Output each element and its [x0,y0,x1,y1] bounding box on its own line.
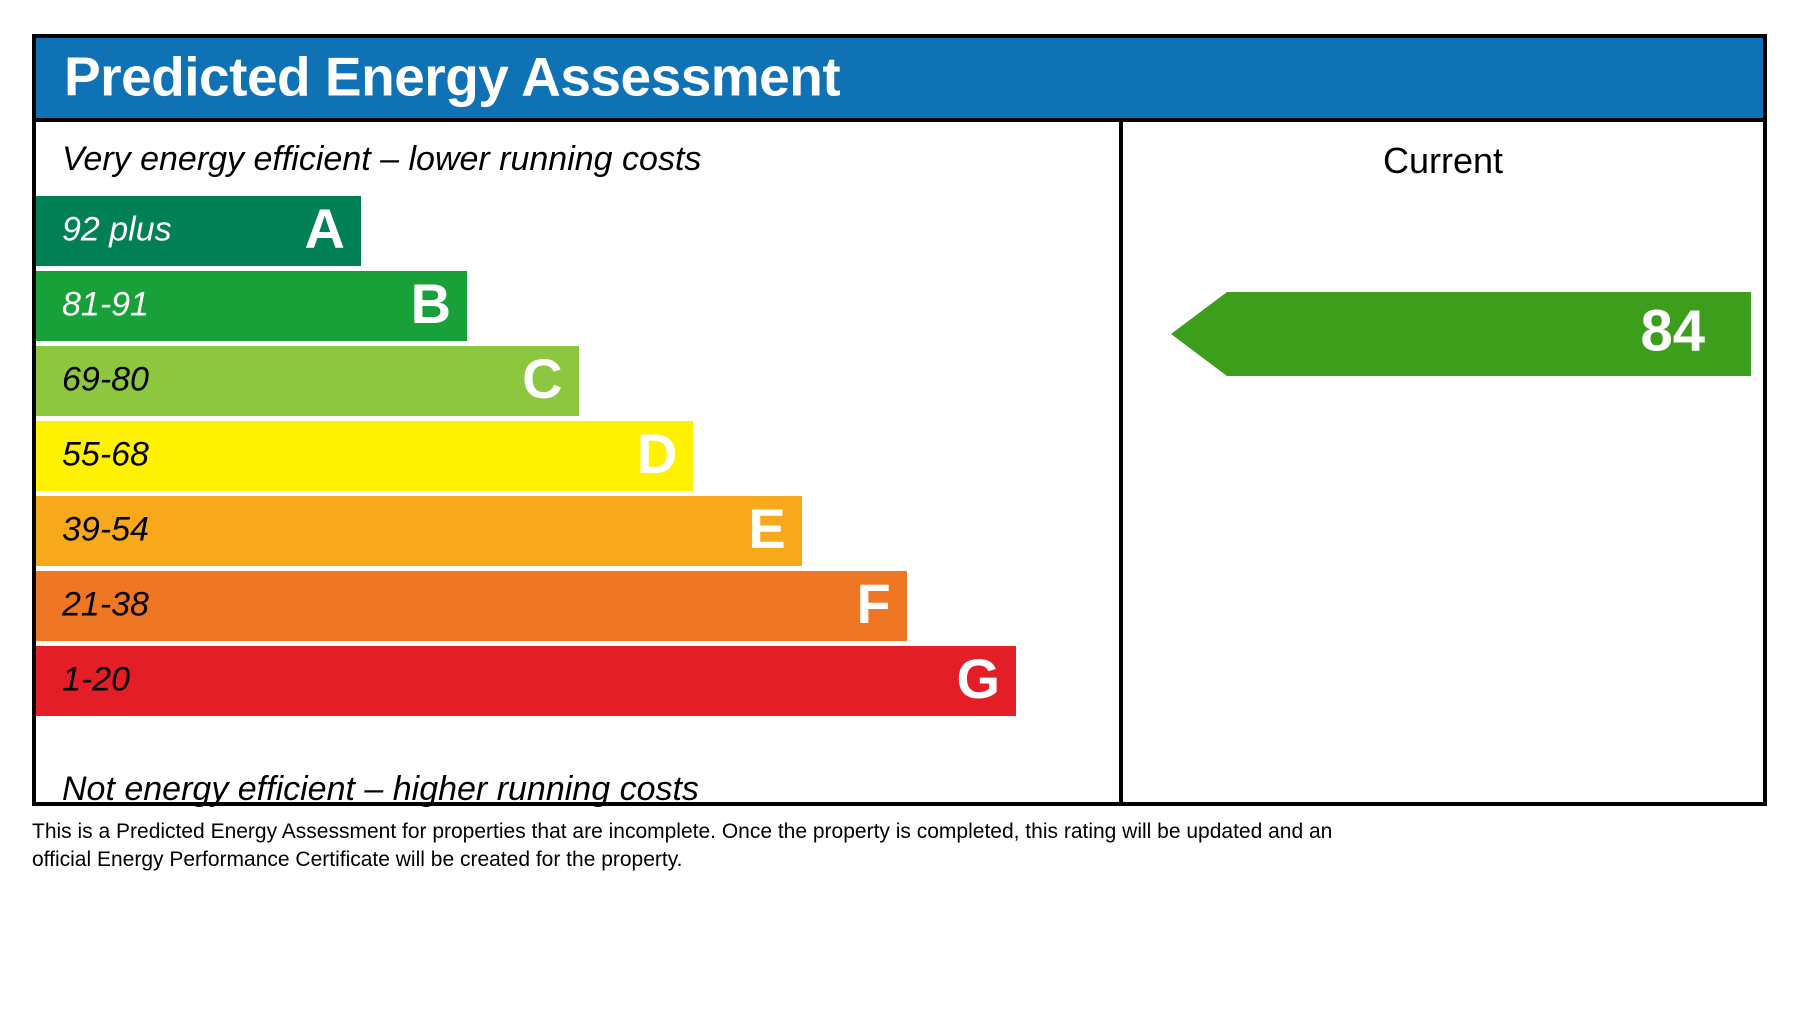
band-letter-g: G [957,651,1001,707]
band-range-g: 1-20 [62,661,130,700]
band-letter-e: E [748,501,785,557]
column-header-current: Current [1123,140,1763,182]
epc-chart: Predicted Energy Assessment Very energy … [0,0,1800,1012]
chart-body: Very energy efficient – lower running co… [36,122,1763,802]
band-range-b: 81-91 [62,286,149,325]
band-row-f: 21-38 F [36,571,907,641]
page-title: Predicted Energy Assessment [64,45,840,109]
current-pane: Current 84 [1123,122,1763,802]
scale-pane: Very energy efficient – lower running co… [36,122,1119,802]
footnote-line-2: official Energy Performance Certificate … [32,846,1532,874]
chart-frame: Predicted Energy Assessment Very energy … [32,34,1767,806]
footnote-line-1: This is a Predicted Energy Assessment fo… [32,818,1532,846]
band-range-f: 21-38 [62,586,149,625]
band-letter-d: D [637,426,677,482]
band-range-a: 92 plus [62,211,172,250]
caption-not-efficient: Not energy efficient – higher running co… [62,770,699,809]
band-letter-a: A [304,201,344,257]
band-row-e: 39-54 E [36,496,802,566]
band-row-g: 1-20 G [36,646,1016,716]
current-rating-arrow: 84 [1171,292,1751,376]
footnote: This is a Predicted Energy Assessment fo… [32,818,1532,875]
band-row-d: 55-68 D [36,421,693,491]
current-rating-value: 84 [1640,303,1705,361]
band-row-b: 81-91 B [36,271,467,341]
band-letter-c: C [522,351,562,407]
band-letter-b: B [411,276,451,332]
band-row-c: 69-80 C [36,346,579,416]
band-row-a: 92 plus A [36,196,361,266]
band-range-c: 69-80 [62,361,149,400]
caption-very-efficient: Very energy efficient – lower running co… [62,140,701,179]
band-letter-f: F [857,576,891,632]
chart-header: Predicted Energy Assessment [36,38,1763,122]
band-list: 92 plus A 81-91 B 69-80 C 55-68 D [36,196,1119,721]
band-range-d: 55-68 [62,436,149,475]
band-range-e: 39-54 [62,511,149,550]
